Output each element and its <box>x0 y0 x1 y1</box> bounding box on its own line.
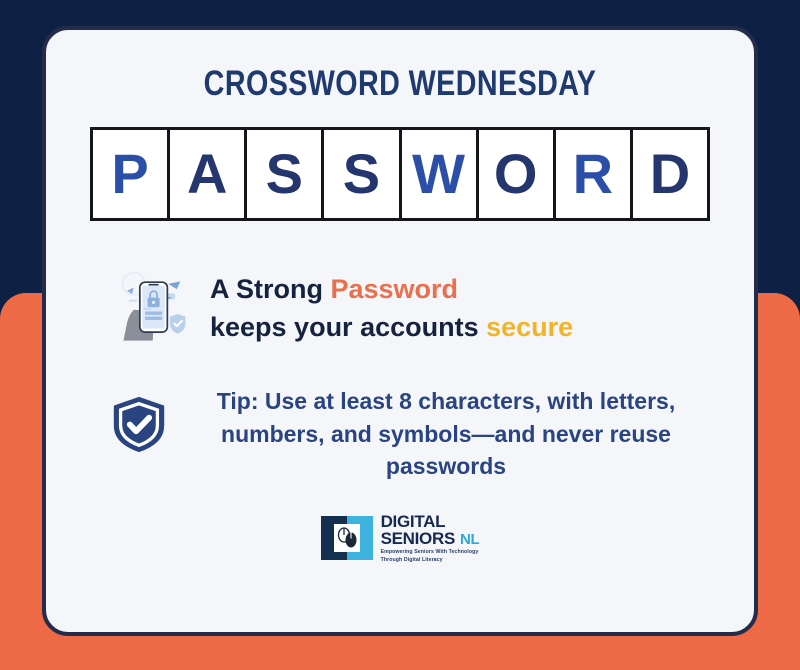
message-highlight-secure: secure <box>486 312 573 342</box>
logo-seniors-word: SENIORS <box>381 530 455 547</box>
poster-card: CROSSWORD WEDNESDAY P A S S W O R D <box>42 26 758 636</box>
message-line-1-prefix: A Strong <box>210 274 331 304</box>
logo-text-block: DIGITAL SENIORS NL Empowering Seniors Wi… <box>381 513 480 564</box>
message-line-2: keeps your accounts secure <box>210 308 573 346</box>
crossword-grid: P A S S W O R D <box>90 127 710 221</box>
logo-line-seniors: SENIORS NL <box>381 530 480 547</box>
hand-holding-phone-icon <box>108 265 194 351</box>
message-line-2-prefix: keeps your accounts <box>210 312 486 342</box>
message-highlight-password: Password <box>331 274 459 304</box>
message-line-1: A Strong Password <box>210 270 573 308</box>
shield-check-icon <box>108 393 170 455</box>
crossword-cell: R <box>556 130 630 218</box>
crossword-cell: O <box>479 130 553 218</box>
tip-row: Tip: Use at least 8 characters, with let… <box>46 385 754 483</box>
crossword-cell: A <box>170 130 244 218</box>
logo-tagline-line-2: Through Digital Literacy <box>381 557 480 564</box>
crossword-cell: S <box>324 130 398 218</box>
crossword-cell: W <box>402 130 476 218</box>
crossword-cell: D <box>633 130 707 218</box>
logo-tagline-line-1: Empowering Seniors With Technology <box>381 549 480 556</box>
digital-seniors-logo-mark <box>321 516 373 560</box>
crossword-cell: S <box>247 130 321 218</box>
logo-nl-suffix: NL <box>460 532 479 547</box>
logo-line-digital: DIGITAL <box>381 513 480 530</box>
brand-logo: DIGITAL SENIORS NL Empowering Seniors Wi… <box>46 513 754 564</box>
crossword-cell: P <box>93 130 167 218</box>
strong-password-message: A Strong Password keeps your accounts se… <box>210 270 573 347</box>
page-title: CROSSWORD WEDNESDAY <box>110 66 691 101</box>
strong-password-row: A Strong Password keeps your accounts se… <box>46 265 754 351</box>
tip-text: Tip: Use at least 8 characters, with let… <box>184 385 708 483</box>
